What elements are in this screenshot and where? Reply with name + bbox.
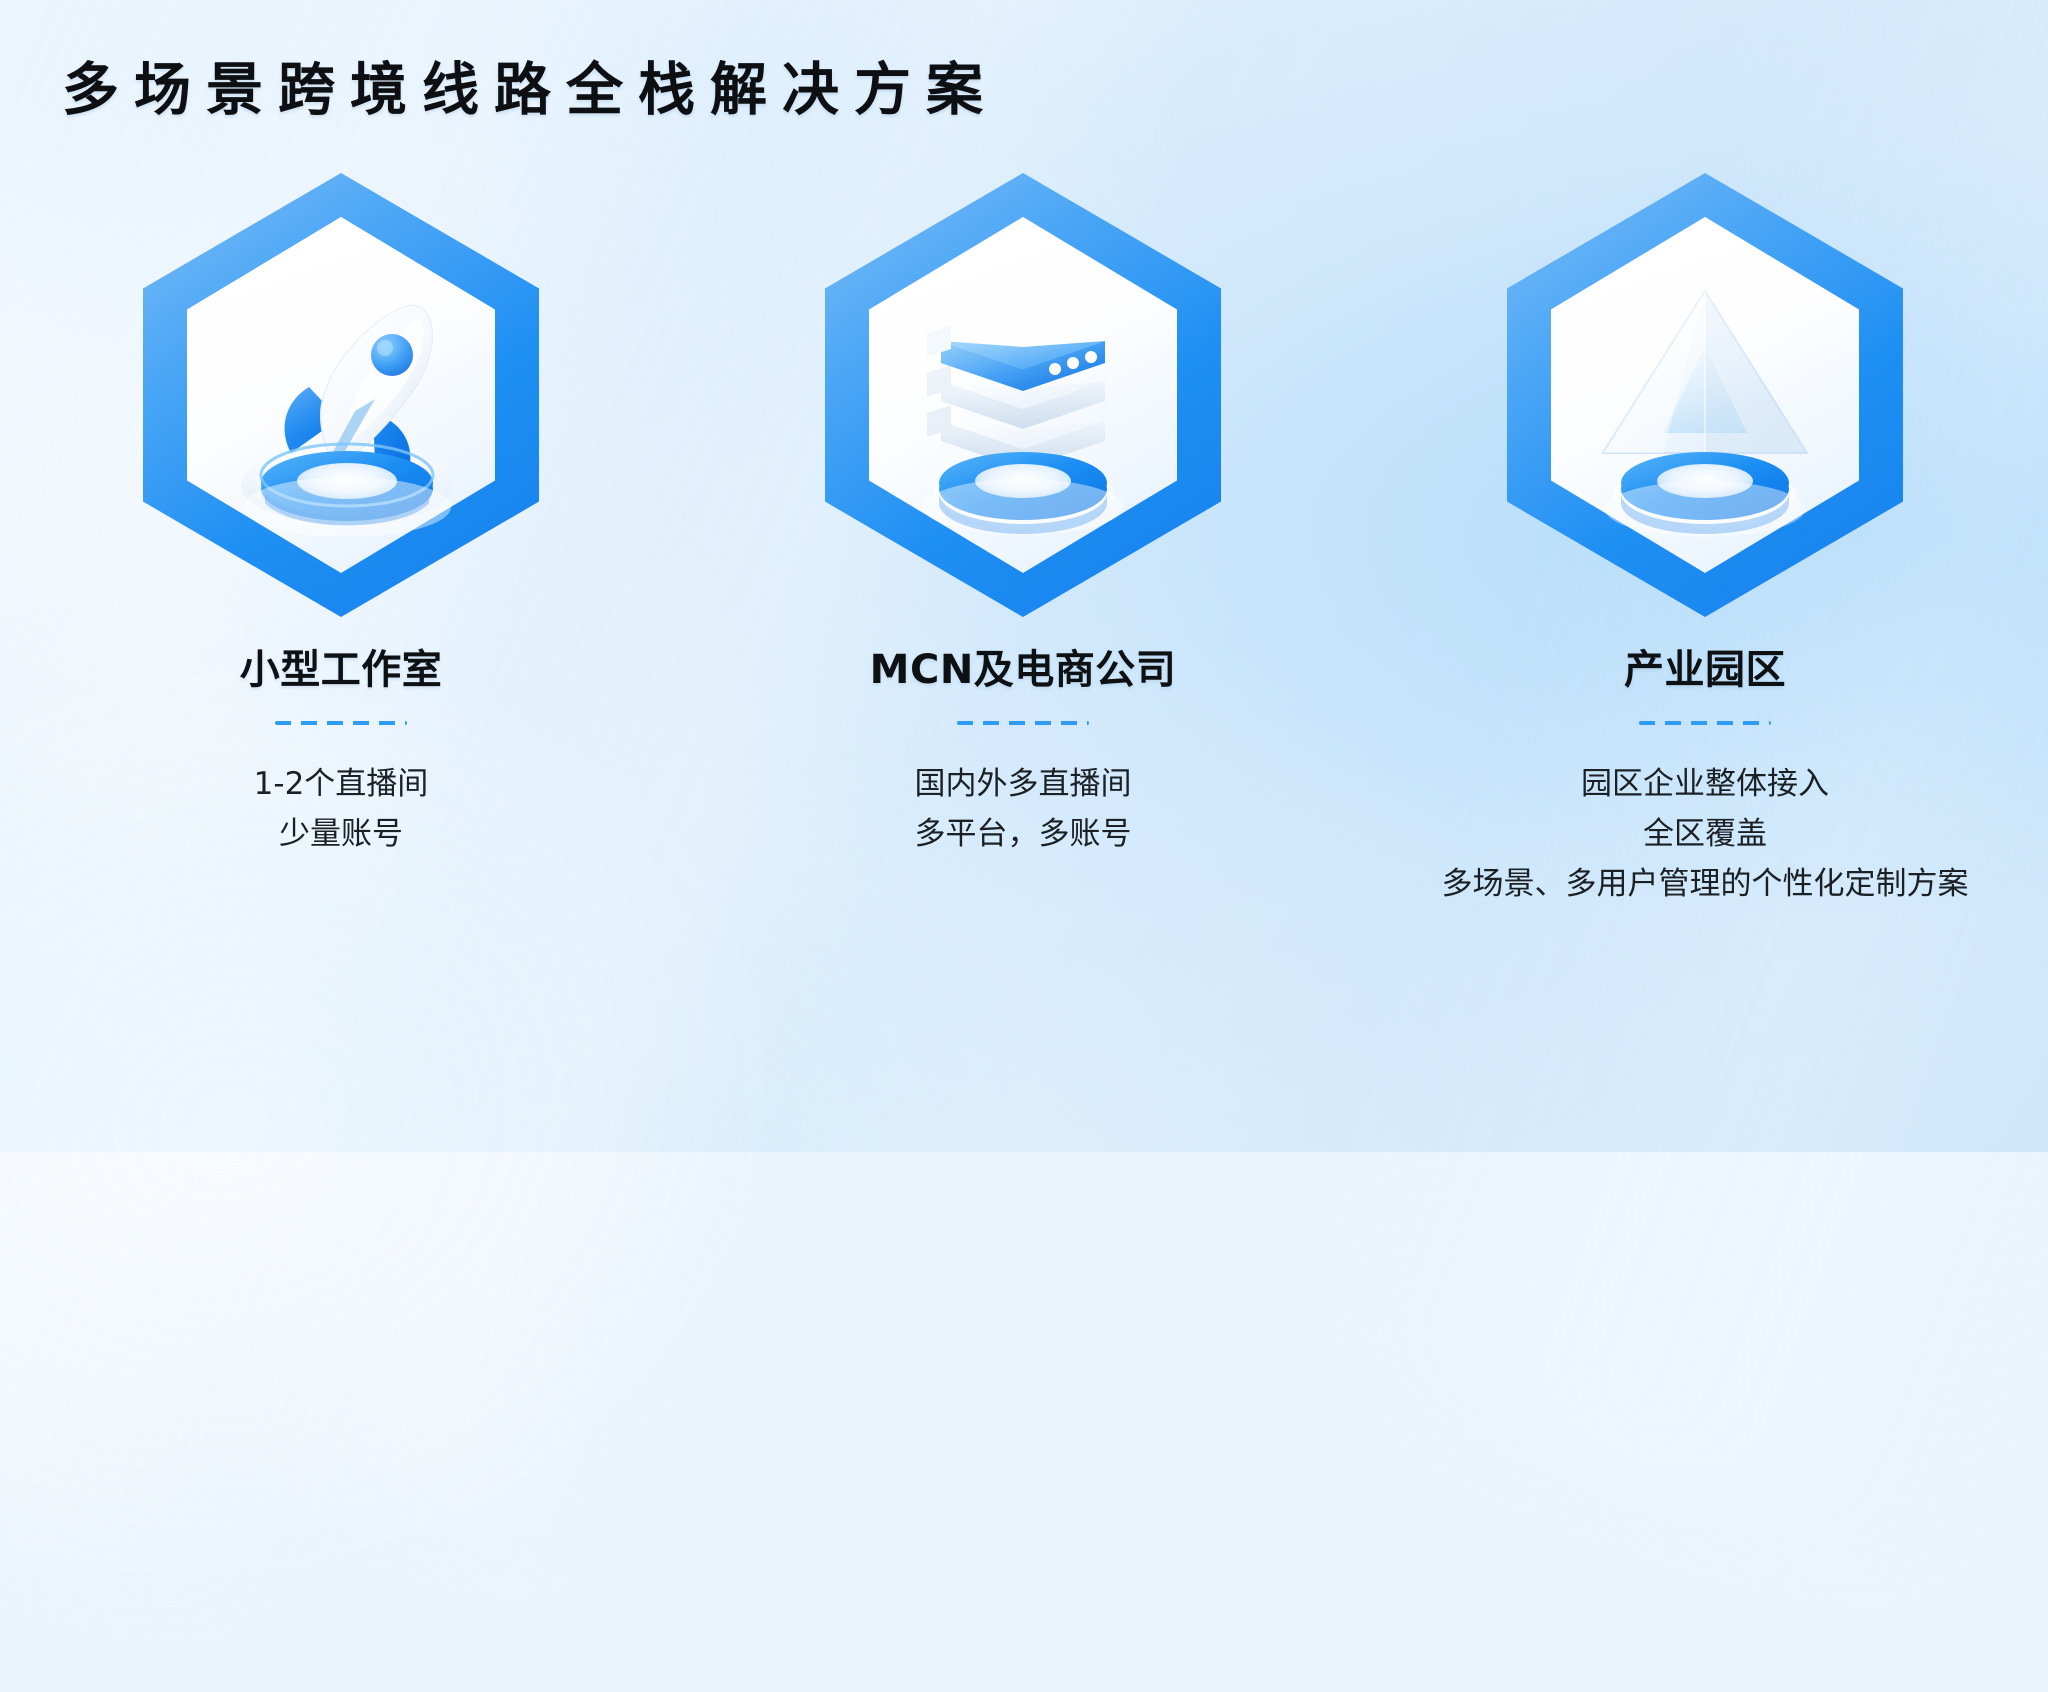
card-line: 少量账号 [254,809,429,859]
rocket-icon [187,217,495,573]
hexagon-badge [813,165,1233,625]
card-line: 国内外多直播间 [915,759,1132,809]
card-line: 1-2个直播间 [254,759,429,809]
hexagon-badge [1495,165,1915,625]
card-description: 园区企业整体接入 全区覆盖 多场景、多用户管理的个性化定制方案 [1442,759,1969,910]
card-divider [1639,721,1771,725]
solution-card-industrial-park[interactable]: 产业园区 园区企业整体接入 全区覆盖 多场景、多用户管理的个性化定制方案 [1364,165,2046,910]
card-title: 产业园区 [1624,637,1786,695]
solution-card-small-studio[interactable]: 小型工作室 1-2个直播间 少量账号 [0,165,682,910]
card-title: MCN及电商公司 [870,637,1177,695]
glass-pyramid-icon [1551,217,1859,573]
page-title: 多场景跨境线路全栈解决方案 [62,56,998,124]
card-description: 1-2个直播间 少量账号 [254,759,429,859]
card-line: 全区覆盖 [1442,809,1969,859]
card-divider [275,721,407,725]
solution-card-list: 小型工作室 1-2个直播间 少量账号 [0,165,2048,910]
hexagon-badge [131,165,551,625]
solution-card-mcn-ecommerce[interactable]: MCN及电商公司 国内外多直播间 多平台，多账号 [682,165,1364,910]
server-stack-icon [869,217,1177,573]
poster-canvas: 多场景跨境线路全栈解决方案 [0,0,2048,1152]
card-title: 小型工作室 [240,637,443,695]
card-line: 多平台，多账号 [915,809,1132,859]
card-description: 国内外多直播间 多平台，多账号 [915,759,1132,859]
card-divider [957,721,1089,725]
card-line: 园区企业整体接入 [1442,759,1969,809]
card-line: 多场景、多用户管理的个性化定制方案 [1442,859,1969,909]
